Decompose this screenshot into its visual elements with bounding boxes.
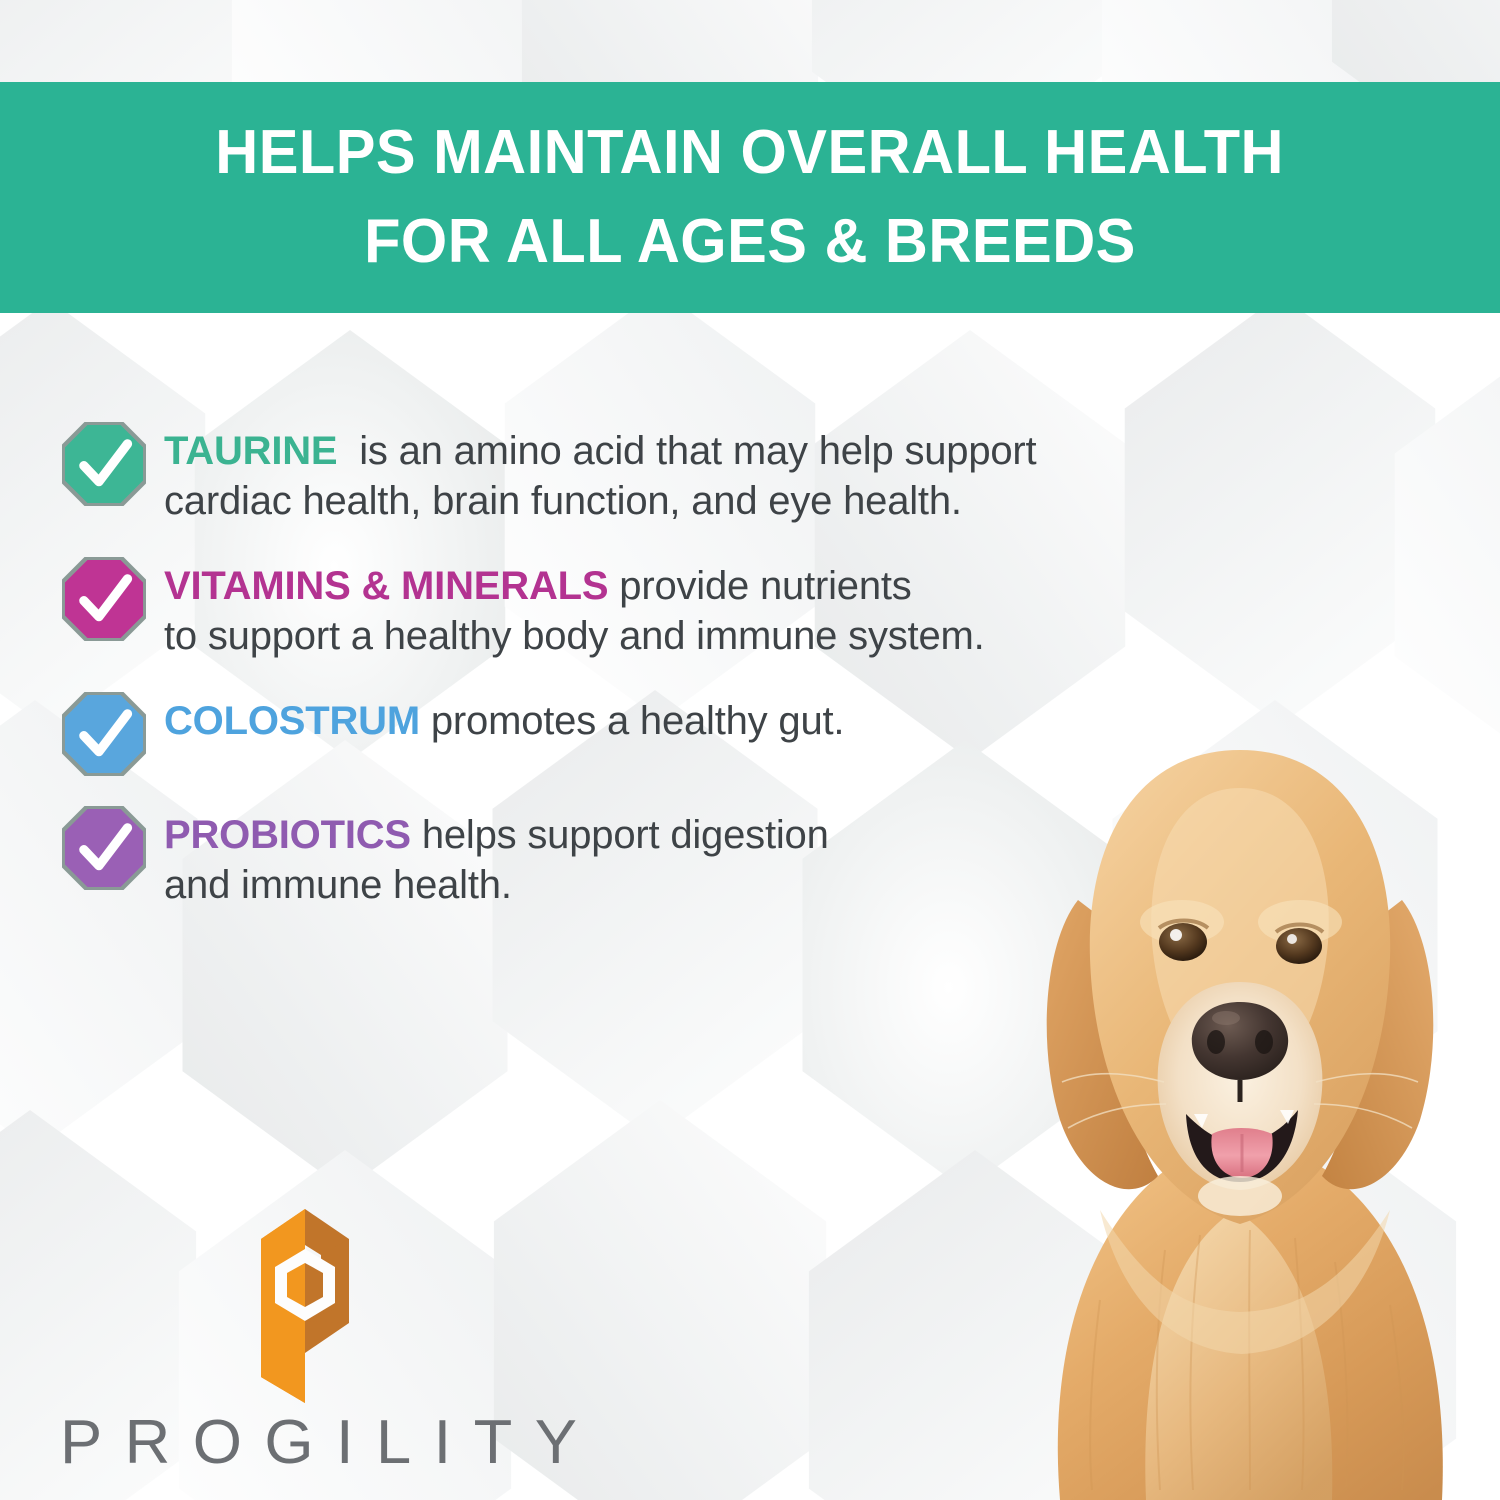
benefit-text-vitamins-minerals: VITAMINS & MINERALS provide nutrients to… (164, 553, 985, 662)
benefit-keyword-vitamins-minerals: VITAMINS & MINERALS (164, 564, 608, 608)
progility-p-hexagon-logo-icon (225, 1205, 385, 1405)
benefit-list: TAURINE is an amino acid that may help s… (62, 418, 1282, 936)
benefit-body-line2-vitamins-minerals: to support a healthy body and immune sys… (164, 614, 985, 658)
benefit-item-probiotics: PROBIOTICS helps support digestion and i… (62, 802, 1282, 911)
benefit-text-taurine: TAURINE is an amino acid that may help s… (164, 418, 1036, 527)
header-title-line-1: HELPS MAINTAIN OVERALL HEALTH (216, 109, 1285, 197)
benefit-item-vitamins-minerals: VITAMINS & MINERALS provide nutrients to… (62, 553, 1282, 662)
checkmark-icon (62, 692, 146, 776)
checkmark-icon (62, 422, 146, 506)
checkmark-icon (62, 806, 146, 890)
checkmark-badge-colostrum (62, 692, 146, 776)
benefit-text-probiotics: PROBIOTICS helps support digestion and i… (164, 802, 829, 911)
header-banner: HELPS MAINTAIN OVERALL HEALTH FOR ALL AG… (0, 82, 1500, 313)
checkmark-icon (62, 557, 146, 641)
benefit-body-line1-taurine: is an amino acid that may help support (359, 429, 1036, 473)
benefit-body-line1-probiotics: helps support digestion (422, 813, 829, 857)
benefit-keyword-taurine: TAURINE (164, 429, 337, 473)
benefit-item-colostrum: COLOSTRUM promotes a healthy gut. (62, 688, 1282, 776)
benefit-body-line1-vitamins-minerals: provide nutrients (619, 564, 911, 608)
checkmark-badge-vitamins-minerals (62, 557, 146, 641)
brand-wordmark: PROGILITY (60, 1407, 550, 1478)
brand-logo: PROGILITY (60, 1205, 540, 1478)
header-title-line-2: FOR ALL AGES & BREEDS (364, 198, 1136, 286)
benefit-item-taurine: TAURINE is an amino acid that may help s… (62, 418, 1282, 527)
benefit-body-line2-probiotics: and immune health. (164, 863, 512, 907)
benefit-body-line1-colostrum: promotes a healthy gut. (431, 699, 844, 743)
benefit-text-colostrum: COLOSTRUM promotes a healthy gut. (164, 688, 844, 746)
checkmark-badge-probiotics (62, 806, 146, 890)
checkmark-badge-taurine (62, 422, 146, 506)
benefit-keyword-probiotics: PROBIOTICS (164, 813, 411, 857)
benefit-body-line2-taurine: cardiac health, brain function, and eye … (164, 479, 962, 523)
benefit-keyword-colostrum: COLOSTRUM (164, 699, 420, 743)
infographic-canvas: HELPS MAINTAIN OVERALL HEALTH FOR ALL AG… (0, 0, 1500, 1500)
